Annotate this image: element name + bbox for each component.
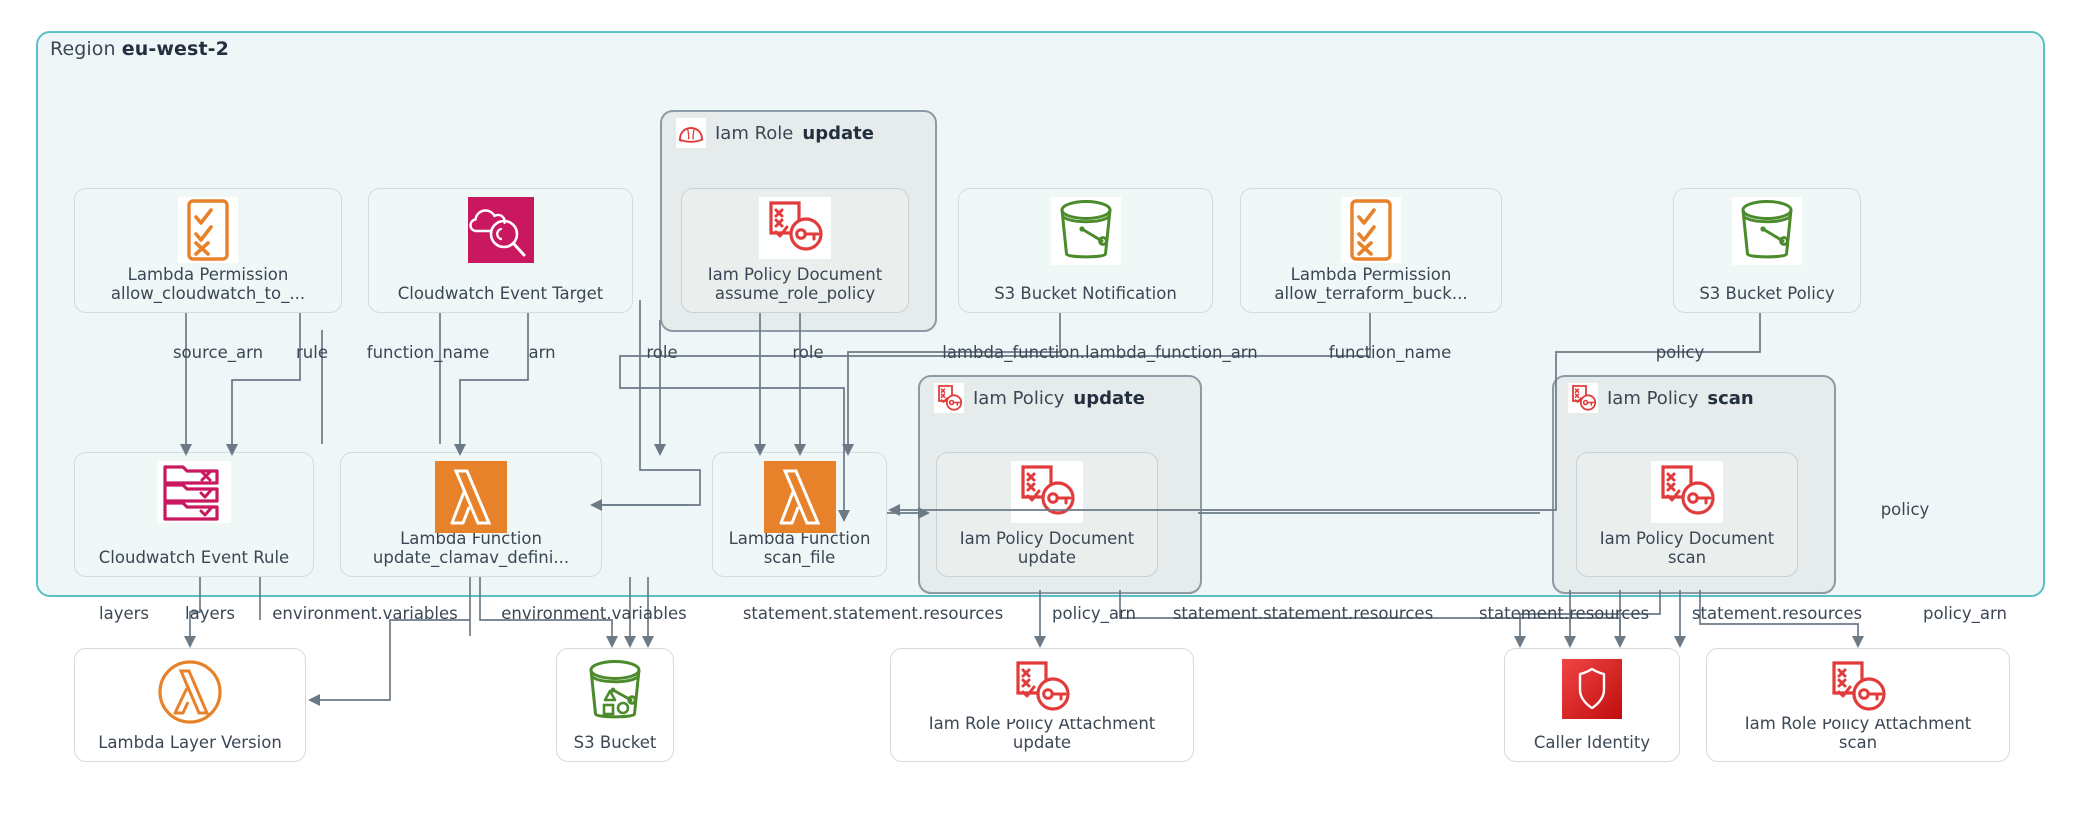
edge-label-policy-arn-2: policy_arn: [1923, 604, 2007, 623]
group-iam-role-update-header: Iam Role update: [676, 118, 874, 148]
cloudwatch-event-rule-icon: [157, 461, 231, 523]
edge-label-arn: arn: [528, 343, 555, 362]
node-sublabel: assume_role_policy: [682, 284, 908, 303]
region-prefix: Region: [50, 38, 116, 60]
group-iam-policy-update-type: Iam Policy: [973, 388, 1064, 409]
edge-label-policy-2: policy: [1881, 500, 1930, 519]
s3-bucket-icon: [1732, 197, 1802, 265]
edge-label-policy-arn-1: policy_arn: [1052, 604, 1136, 623]
node-label: S3 Bucket: [557, 733, 673, 752]
edge-label-role-2: role: [792, 343, 823, 362]
lambda-function-icon: [764, 461, 836, 533]
node-label: Caller Identity: [1505, 733, 1679, 752]
node-lambda-layer-version[interactable]: Lambda Layer Version: [74, 648, 306, 762]
edge-label-policy-1: policy: [1656, 343, 1705, 362]
node-iam-policy-doc-assume[interactable]: Iam Policy Document assume_role_policy: [681, 188, 909, 313]
edge-label-role-1: role: [646, 343, 677, 362]
node-label: Cloudwatch Event Rule: [75, 548, 313, 567]
group-iam-role-update-name: update: [802, 123, 874, 144]
iam-policy-document-icon: [1822, 657, 1894, 719]
lambda-layer-icon: [155, 657, 225, 727]
node-iam-rpa-update[interactable]: Iam Role Policy Attachment update: [890, 648, 1194, 762]
node-label: Lambda Permission: [75, 265, 341, 284]
group-iam-policy-scan-name: scan: [1707, 388, 1753, 409]
node-caller-identity[interactable]: Caller Identity: [1504, 648, 1680, 762]
node-iam-policy-doc-scan[interactable]: Iam Policy Document scan: [1576, 452, 1798, 577]
iam-policy-document-icon: [1006, 657, 1078, 719]
edge-label-lambda-arn: lambda_function.lambda_function_arn: [942, 343, 1258, 362]
edge-label-layers-2: layers: [185, 604, 235, 623]
node-label: Iam Policy Document: [937, 529, 1157, 548]
s3-bucket-icon: [1051, 197, 1121, 265]
iam-policy-icon: [934, 383, 964, 413]
edge-label-source-arn: source_arn: [173, 343, 263, 362]
caller-identity-icon: [1560, 657, 1624, 721]
edge-label-stmt-res-4: statement.resources: [1692, 604, 1862, 623]
edge-label-envvars-1: environment.variables: [272, 604, 458, 623]
node-s3-bucket-policy[interactable]: S3 Bucket Policy: [1673, 188, 1861, 313]
lambda-function-icon: [435, 461, 507, 533]
node-sublabel: update: [937, 548, 1157, 567]
node-s3-bucket-notification[interactable]: S3 Bucket Notification: [958, 188, 1213, 313]
lambda-permission-icon: [1341, 197, 1401, 263]
edge-label-stmt-res-3: statement.resources: [1479, 604, 1649, 623]
s3-bucket-shapes-icon: [580, 657, 650, 725]
node-sublabel: scan: [1707, 733, 2009, 752]
diagram-canvas: Region eu-west-2 Iam Role update: [0, 0, 2077, 837]
group-iam-policy-scan-type: Iam Policy: [1607, 388, 1698, 409]
node-lambda-fn-scan-file[interactable]: Lambda Function scan_file: [712, 452, 887, 577]
group-iam-policy-update-header: Iam Policy update: [934, 383, 1145, 413]
iam-policy-document-icon: [1651, 461, 1723, 523]
edge-label-rule: rule: [296, 343, 328, 362]
node-iam-policy-doc-update[interactable]: Iam Policy Document update: [936, 452, 1158, 577]
region-name: eu-west-2: [122, 38, 229, 60]
edge-label-stmt-res-1: statement.statement.resources: [743, 604, 1003, 623]
node-lambda-permission-tf[interactable]: Lambda Permission allow_terraform_buck..…: [1240, 188, 1502, 313]
cloudwatch-event-target-icon: [468, 197, 534, 263]
node-cloudwatch-event-target[interactable]: Cloudwatch Event Target: [368, 188, 633, 313]
group-iam-policy-scan-header: Iam Policy scan: [1568, 383, 1754, 413]
node-sublabel: update_clamav_defini...: [341, 548, 601, 567]
edge-label-function-name-1: function_name: [367, 343, 489, 362]
edge-label-envvars-2: environment.variables: [501, 604, 687, 623]
group-iam-policy-update-name: update: [1073, 388, 1145, 409]
node-label: S3 Bucket Notification: [959, 284, 1212, 303]
edge-label-function-name-2: function_name: [1329, 343, 1451, 362]
node-label: S3 Bucket Policy: [1674, 284, 1860, 303]
node-sublabel: scan: [1577, 548, 1797, 567]
node-lambda-fn-update-clamav[interactable]: Lambda Function update_clamav_defini...: [340, 452, 602, 577]
region-label: Region eu-west-2: [50, 38, 229, 60]
node-iam-rpa-scan[interactable]: Iam Role Policy Attachment scan: [1706, 648, 2010, 762]
node-label: Iam Policy Document: [1577, 529, 1797, 548]
node-s3-bucket[interactable]: S3 Bucket: [556, 648, 674, 762]
lambda-permission-icon: [178, 197, 238, 263]
node-sublabel: allow_terraform_buck...: [1241, 284, 1501, 303]
edge-label-layers-1: layers: [99, 604, 149, 623]
node-label: Lambda Permission: [1241, 265, 1501, 284]
group-iam-role-update-type: Iam Role: [715, 123, 793, 144]
iam-role-icon: [676, 118, 706, 148]
node-label: Lambda Layer Version: [75, 733, 305, 752]
node-sublabel: allow_cloudwatch_to_...: [75, 284, 341, 303]
iam-policy-icon: [1568, 383, 1598, 413]
node-lambda-permission-cw[interactable]: Lambda Permission allow_cloudwatch_to_..…: [74, 188, 342, 313]
edge-label-stmt-res-2: statement.statement.resources: [1173, 604, 1433, 623]
node-sublabel: update: [891, 733, 1193, 752]
node-sublabel: scan_file: [713, 548, 886, 567]
node-label: Cloudwatch Event Target: [369, 284, 632, 303]
iam-policy-document-icon: [1011, 461, 1083, 523]
node-label: Iam Policy Document: [682, 265, 908, 284]
iam-policy-document-icon: [759, 197, 831, 259]
node-cloudwatch-event-rule[interactable]: Cloudwatch Event Rule: [74, 452, 314, 577]
